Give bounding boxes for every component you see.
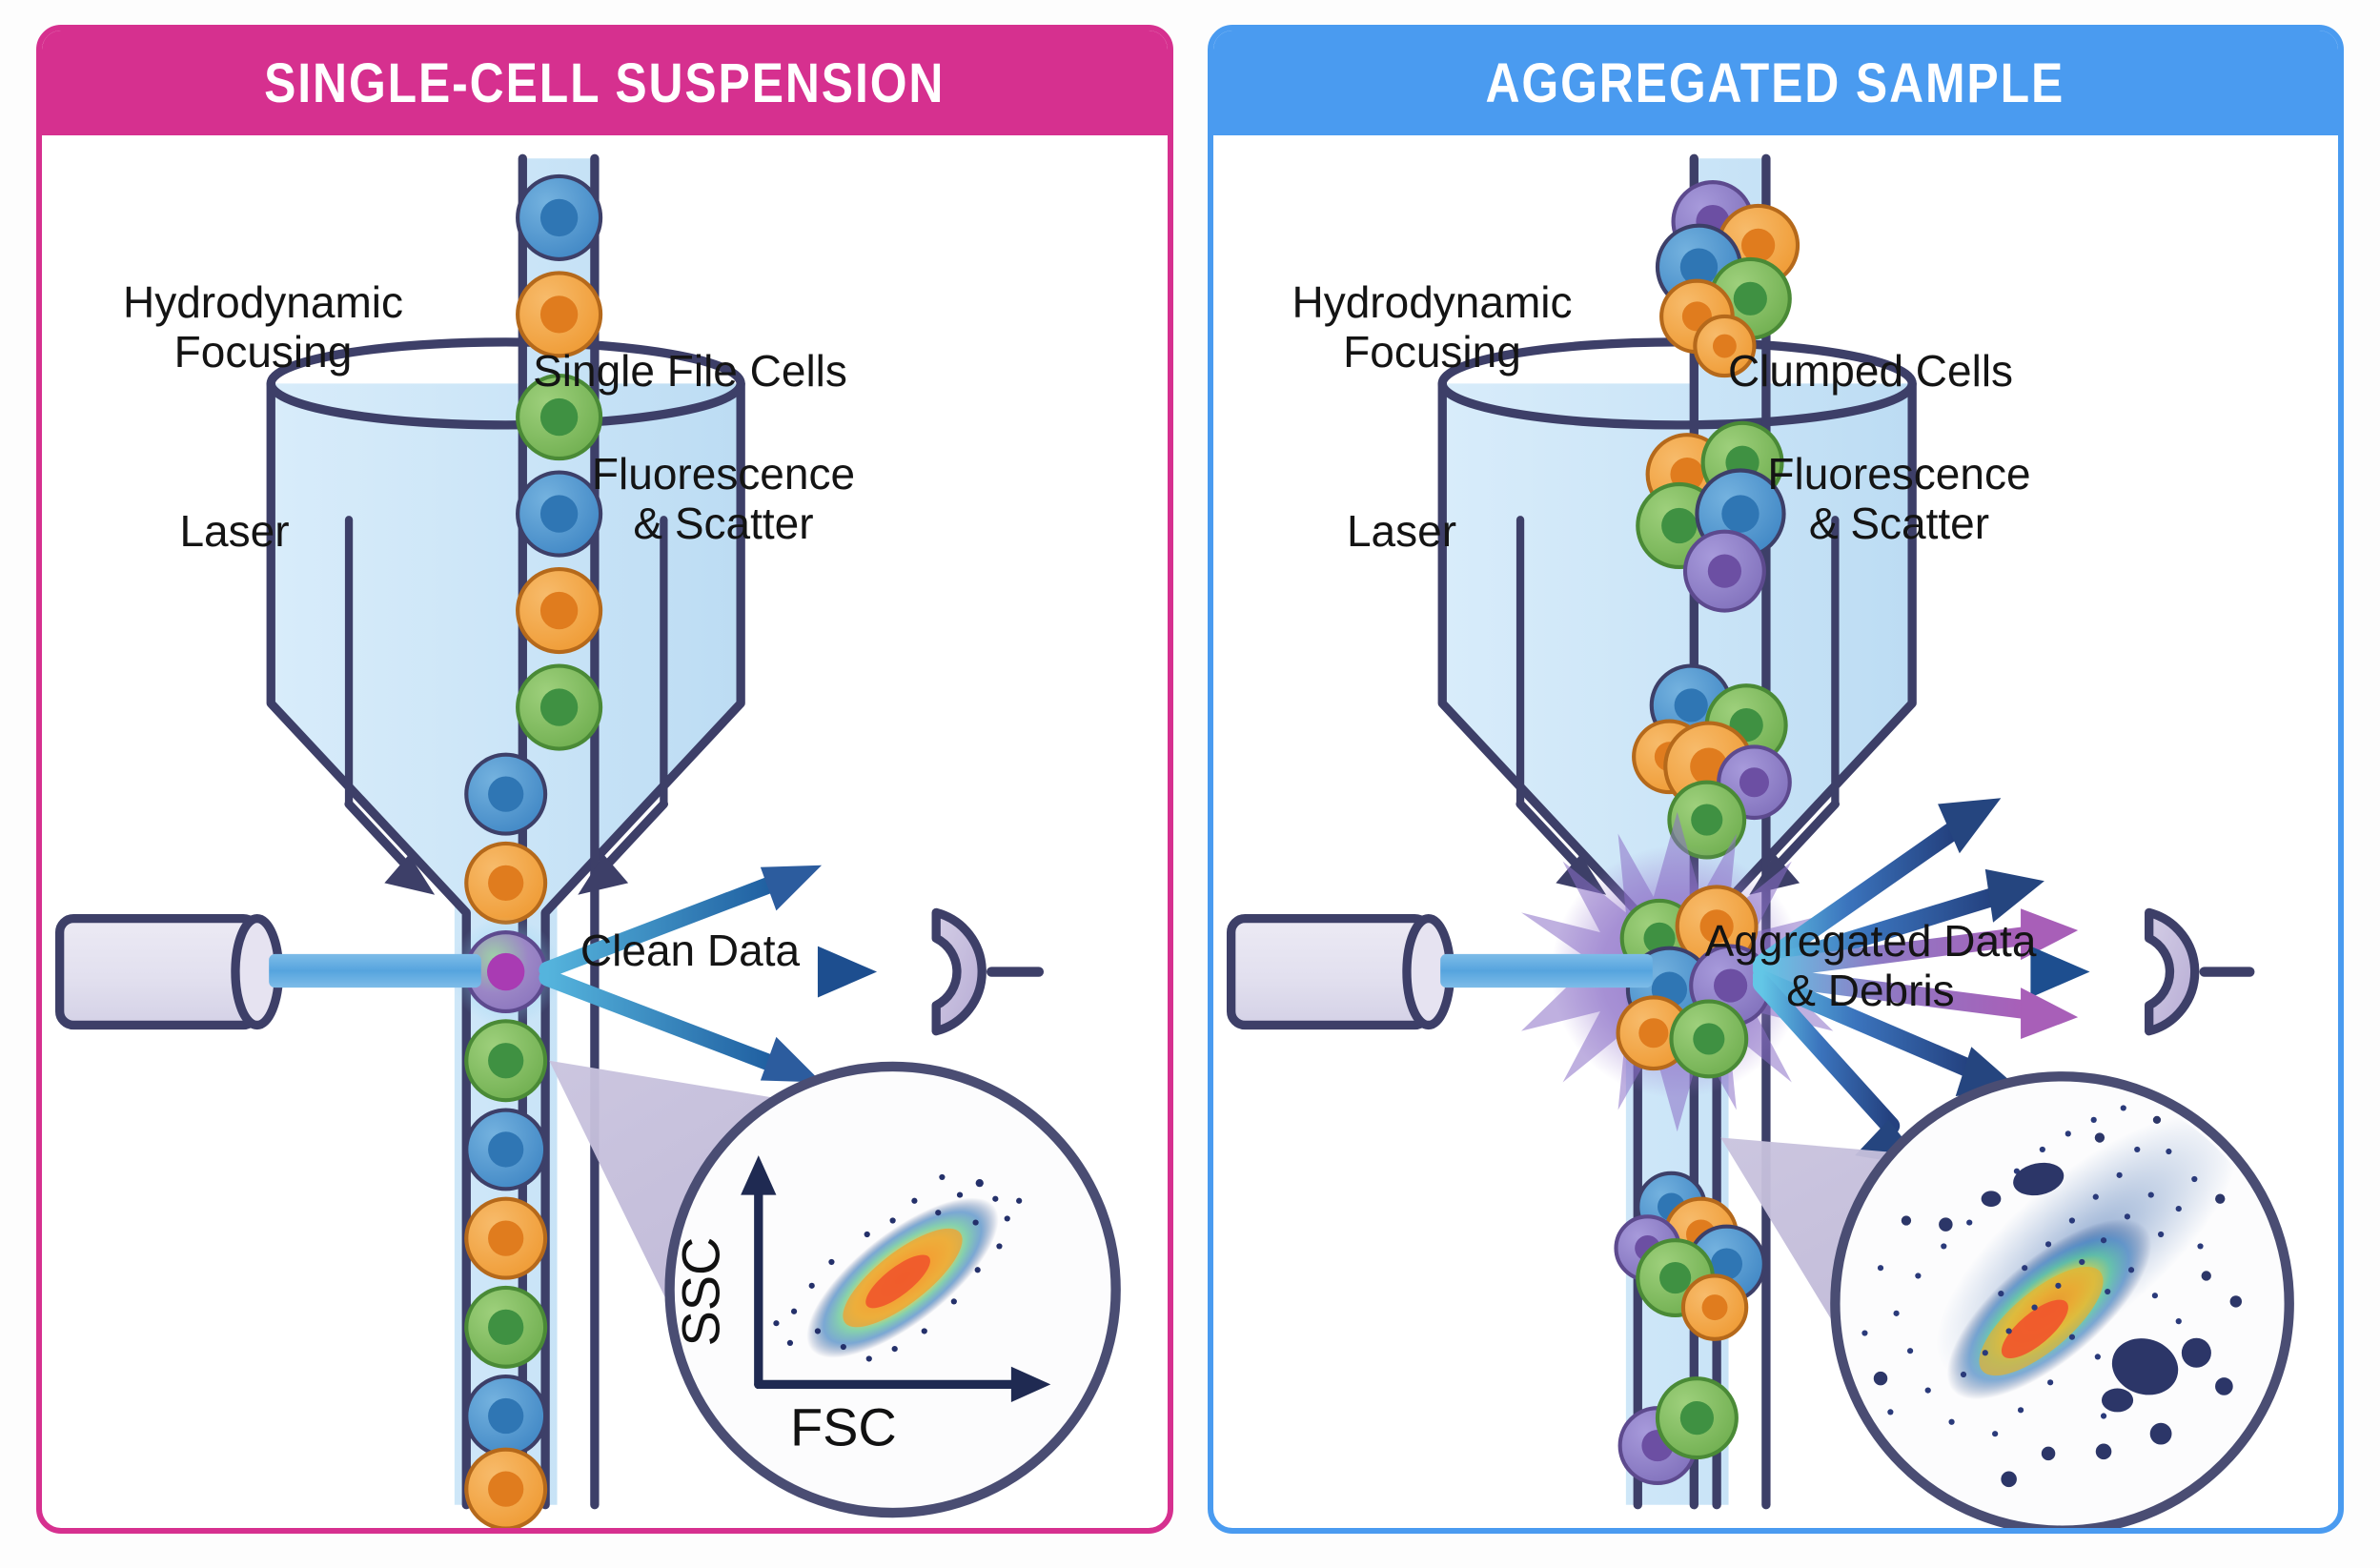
detector bbox=[936, 912, 1039, 1030]
cell-green bbox=[518, 666, 600, 749]
inset-clean-data: FSC SSC bbox=[670, 1067, 1116, 1513]
label-hydrodynamic-focusing: Hydrodynamic Focusing bbox=[63, 278, 463, 377]
cell-blue bbox=[466, 1376, 545, 1456]
cell-green bbox=[466, 1288, 545, 1367]
cell-orange bbox=[466, 1199, 545, 1278]
detector bbox=[2148, 912, 2249, 1030]
label-clean-data: Clean Data bbox=[442, 927, 938, 976]
inset-aggregated-data bbox=[1835, 1070, 2288, 1528]
label-single-file-cells: Single File Cells bbox=[490, 347, 890, 397]
panel-header-aggregated: AGGREGATED SAMPLE bbox=[1213, 31, 2339, 135]
cell-orange bbox=[466, 1450, 545, 1528]
panel-header-single-cell: SINGLE-CELL SUSPENSION bbox=[42, 31, 1168, 135]
diagram-root: SINGLE-CELL SUSPENSION bbox=[0, 0, 2380, 1568]
laser-source bbox=[60, 919, 279, 1026]
cell-orange bbox=[518, 569, 600, 652]
label-laser: Laser bbox=[1259, 507, 1545, 557]
cell-orange bbox=[518, 273, 600, 356]
panel-single-cell-suspension: SINGLE-CELL SUSPENSION bbox=[36, 25, 1173, 1534]
label-aggregated-data-debris: Aggregated Data & Debris bbox=[1623, 917, 2119, 1015]
cell-blue bbox=[466, 1110, 545, 1190]
panel-aggregated-sample: AGGREGATED SAMPLE bbox=[1208, 25, 2345, 1534]
label-clumped-cells: Clumped Cells bbox=[1671, 347, 2071, 397]
scatter-arrow-down bbox=[547, 978, 822, 1083]
laser-source bbox=[1231, 919, 1450, 1026]
panel-body-aggregated: Hydrodynamic Focusing Laser Clumped Cell… bbox=[1213, 135, 2339, 1528]
label-laser: Laser bbox=[92, 507, 377, 557]
cell-blue bbox=[518, 176, 600, 259]
inset-x-axis-label: FSC bbox=[790, 1397, 897, 1457]
label-fluorescence-scatter: Fluorescence & Scatter bbox=[1695, 450, 2105, 548]
panel-body-single-cell: FSC SSC Hydrodynamic Focusing Laser Sing… bbox=[42, 135, 1168, 1528]
label-hydrodynamic-focusing: Hydrodynamic Focusing bbox=[1232, 278, 1633, 377]
panel-title-aggregated: AGGREGATED SAMPLE bbox=[1486, 51, 2065, 115]
label-fluorescence-scatter: Fluorescence & Scatter bbox=[519, 450, 928, 548]
laser-beam bbox=[1440, 954, 1653, 988]
panel-title-single-cell: SINGLE-CELL SUSPENSION bbox=[264, 51, 945, 115]
cell-blue bbox=[466, 755, 545, 834]
cell-orange bbox=[466, 844, 545, 923]
cell-green bbox=[466, 1021, 545, 1100]
inset-y-axis-label: SSC bbox=[670, 1237, 730, 1347]
